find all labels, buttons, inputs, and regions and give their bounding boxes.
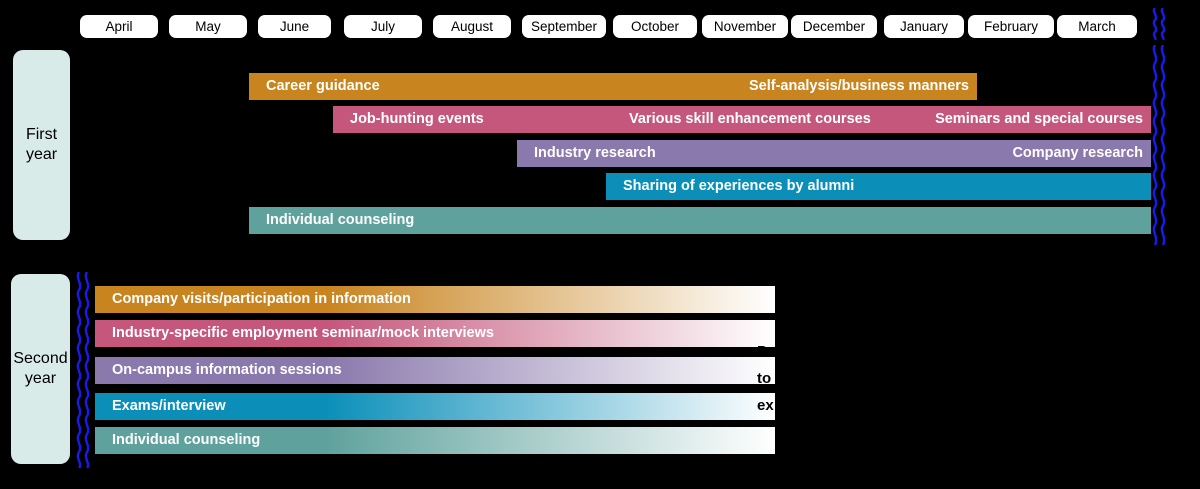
bar-label-company-research: Company research	[1012, 140, 1143, 167]
month-chip-october[interactable]: October	[613, 15, 697, 38]
month-chip-june[interactable]: June	[258, 15, 331, 38]
bar-label-industry-seminar: Industry-specific employment seminar/moc…	[112, 320, 494, 347]
month-chip-september[interactable]: September	[522, 15, 606, 38]
bar-label-company-visits: Company visits/participation in informat…	[112, 286, 411, 313]
bar-label-skill-enhancement: Various skill enhancement courses	[629, 106, 871, 133]
annotation-line-1: Pro	[757, 345, 775, 360]
month-chip-november[interactable]: November	[702, 15, 788, 38]
bar-label-career-guidance: Career guidance	[266, 73, 380, 100]
bar-label-alumni-experiences: Sharing of experiences by alumni	[623, 173, 854, 200]
month-chip-march[interactable]: March	[1057, 15, 1137, 38]
bar-exams-interview[interactable]: Exams/interview	[95, 393, 775, 420]
bar-label-individual-counseling-first: Individual counseling	[266, 207, 414, 234]
second-year-bar-group: Company visits/participation in informat…	[0, 274, 1200, 469]
first-year-bar-group: Career guidance Self-analysis/business m…	[0, 50, 1200, 245]
month-chip-february[interactable]: February	[968, 15, 1054, 38]
bar-label-seminars-special: Seminars and special courses	[935, 106, 1143, 133]
bar-on-campus-sessions[interactable]: On-campus information sessions	[95, 357, 775, 384]
annotation-line-3: ex	[757, 397, 774, 414]
month-chip-january[interactable]: January	[884, 15, 964, 38]
bar-job-hunting-events[interactable]: Job-hunting events Various skill enhance…	[333, 106, 1151, 133]
bar-career-guidance[interactable]: Career guidance Self-analysis/business m…	[249, 73, 977, 100]
annotation-line-2: to	[757, 370, 771, 387]
month-header-row: April May June July August September Oct…	[0, 0, 1200, 44]
clipped-annotation-text: Pro to ex	[757, 345, 775, 420]
bar-alumni-experiences[interactable]: Sharing of experiences by alumni	[606, 173, 1151, 200]
bar-individual-counseling-first-year[interactable]: Individual counseling	[249, 207, 1151, 234]
month-chip-july[interactable]: July	[344, 15, 422, 38]
month-chip-december[interactable]: December	[791, 15, 877, 38]
bar-label-exams-interview: Exams/interview	[112, 393, 226, 420]
bar-individual-counseling-second-year[interactable]: Individual counseling	[95, 427, 775, 454]
bar-industry-seminar-mock-interviews[interactable]: Industry-specific employment seminar/moc…	[95, 320, 775, 347]
month-chip-august[interactable]: August	[433, 15, 511, 38]
month-chip-april[interactable]: April	[80, 15, 158, 38]
month-chip-may[interactable]: May	[169, 15, 247, 38]
bar-company-visits[interactable]: Company visits/participation in informat…	[95, 286, 775, 313]
bar-label-on-campus-sessions: On-campus information sessions	[112, 357, 342, 384]
bar-label-individual-counseling-second: Individual counseling	[112, 427, 260, 454]
bar-industry-research[interactable]: Industry research Company research	[517, 140, 1151, 167]
bar-label-self-analysis: Self-analysis/business manners	[749, 73, 969, 100]
bar-label-job-hunting-events: Job-hunting events	[350, 106, 484, 133]
bar-label-industry-research: Industry research	[534, 140, 656, 167]
